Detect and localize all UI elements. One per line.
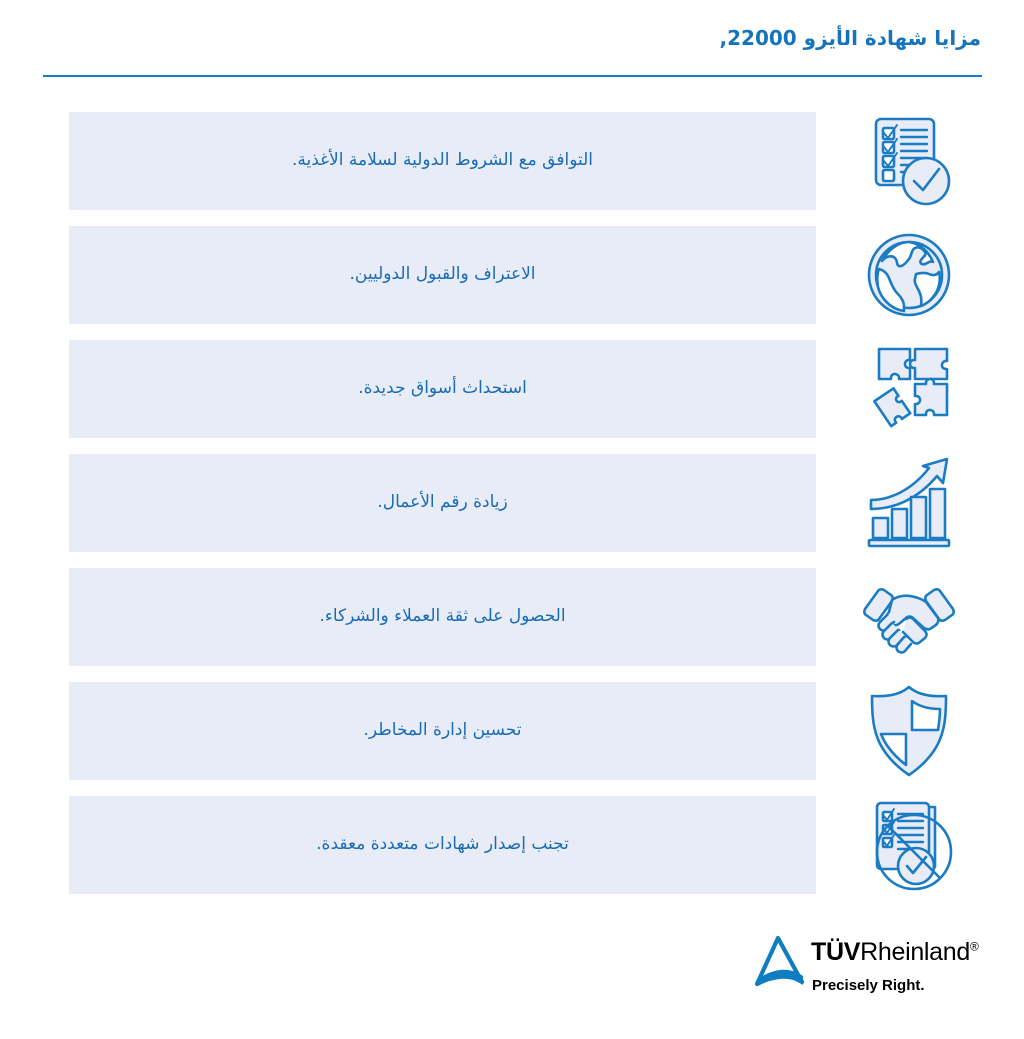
benefit-text: الاعتراف والقبول الدوليين. [329, 262, 555, 288]
benefits-list: التوافق مع الشروط الدولية لسلامة الأغذية… [0, 112, 1024, 910]
benefit-band: زيادة رقم الأعمال. [69, 454, 816, 552]
benefit-row: استحداث أسواق جديدة. [0, 340, 1024, 438]
growth-chart-arrow-icon [853, 453, 965, 553]
globe-icon [853, 225, 965, 325]
benefit-text: زيادة رقم الأعمال. [357, 490, 527, 516]
shield-icon [853, 681, 965, 781]
title-divider [43, 75, 982, 77]
benefit-row: التوافق مع الشروط الدولية لسلامة الأغذية… [0, 112, 1024, 210]
brand-wordmark: TÜVRheinland® [811, 938, 979, 967]
puzzle-pieces-icon [853, 339, 965, 439]
handshake-icon [853, 567, 965, 667]
brand-tagline: Precisely Right. [812, 977, 925, 994]
benefit-text: تجنب إصدار شهادات متعددة معقدة. [296, 832, 589, 858]
benefit-row: تجنب إصدار شهادات متعددة معقدة. [0, 796, 1024, 894]
brand-wordmark-bold: TÜV [811, 938, 860, 966]
benefit-text: تحسين إدارة المخاطر. [343, 718, 541, 744]
benefit-row: الحصول على ثقة العملاء والشركاء. [0, 568, 1024, 666]
benefit-band: تجنب إصدار شهادات متعددة معقدة. [69, 796, 816, 894]
benefit-text: التوافق مع الشروط الدولية لسلامة الأغذية… [272, 148, 613, 174]
benefit-band: الحصول على ثقة العملاء والشركاء. [69, 568, 816, 666]
registered-trademark-symbol: ® [970, 940, 979, 954]
checklist-check-icon [853, 111, 965, 211]
benefit-text: استحداث أسواق جديدة. [338, 376, 547, 402]
benefit-band: التوافق مع الشروط الدولية لسلامة الأغذية… [69, 112, 816, 210]
benefit-row: زيادة رقم الأعمال. [0, 454, 1024, 552]
benefit-row: الاعتراف والقبول الدوليين. [0, 226, 1024, 324]
documents-prohibited-icon [853, 795, 965, 895]
benefit-band: استحداث أسواق جديدة. [69, 340, 816, 438]
benefit-text: الحصول على ثقة العملاء والشركاء. [299, 604, 585, 630]
benefit-band: تحسين إدارة المخاطر. [69, 682, 816, 780]
page-title: مزايا شهادة الأيزو 22000, [720, 26, 982, 50]
brand-wordmark-regular: Rheinland [860, 938, 970, 966]
benefit-band: الاعتراف والقبول الدوليين. [69, 226, 816, 324]
brand-logo: TÜVRheinland® Precisely Right. [751, 934, 981, 1004]
page-header: مزايا شهادة الأيزو 22000, [0, 0, 1024, 86]
tuv-rheinland-triangle-mark-icon [751, 936, 805, 988]
benefit-row: تحسين إدارة المخاطر. [0, 682, 1024, 780]
